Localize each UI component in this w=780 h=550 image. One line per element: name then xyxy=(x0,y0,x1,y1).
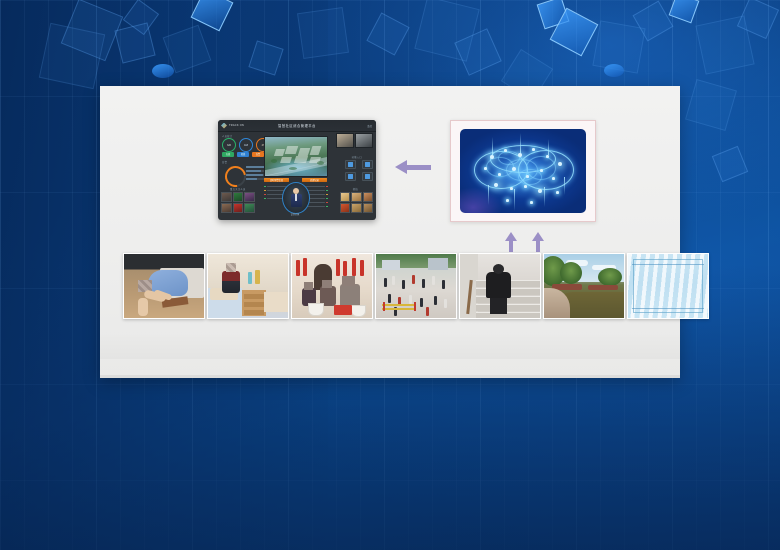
alert-row xyxy=(264,185,286,188)
arrow-shaft xyxy=(407,165,431,170)
dashboard-function-icons[interactable] xyxy=(345,160,373,181)
photo-5[interactable] xyxy=(459,253,541,319)
dashboard-section-bottom-left: 重点关注人员 xyxy=(230,187,246,191)
brain-node xyxy=(490,155,494,159)
capture-thumb[interactable] xyxy=(340,192,351,202)
arrow-photos-to-ai-2 xyxy=(532,232,544,252)
brain-node xyxy=(530,201,533,204)
capture-thumb[interactable] xyxy=(351,192,362,202)
photo-building xyxy=(428,258,448,270)
photo-red-banner xyxy=(352,258,356,276)
dashboard-kpi-rings: 326 118 47 xyxy=(222,138,270,152)
photo-stair-step xyxy=(476,312,540,319)
watchlist-thumb[interactable] xyxy=(233,203,244,213)
scenario-photo-strip xyxy=(123,253,709,319)
brain-node xyxy=(532,148,535,151)
photo-pedestrian xyxy=(422,279,425,288)
brain-node xyxy=(484,167,487,170)
brain-node xyxy=(498,173,501,176)
photo-pedestrian xyxy=(392,276,395,285)
alert-row xyxy=(306,185,328,188)
alert-row xyxy=(306,205,328,208)
photo-pedestrian xyxy=(409,295,412,304)
brain-node xyxy=(540,169,543,172)
photo-pedestrian xyxy=(444,299,447,308)
arrow-head-icon xyxy=(395,160,407,174)
map-greenery xyxy=(289,167,297,170)
brain-node xyxy=(556,191,559,194)
brain-light-beam xyxy=(520,133,521,153)
photo-pedestrian xyxy=(388,294,391,303)
photo-pedestrian xyxy=(432,276,435,285)
photo-pedestrian xyxy=(412,275,415,284)
alert-row xyxy=(306,189,328,192)
photo-7[interactable] xyxy=(627,253,709,319)
ai-brain-image xyxy=(460,129,586,213)
card-bottom-edge xyxy=(100,375,680,378)
dashboard-person-caption: 识别对象 xyxy=(282,212,308,216)
photo-6[interactable] xyxy=(543,253,625,319)
photo-person-body xyxy=(486,272,511,298)
brain-node xyxy=(506,199,509,202)
dashboard-3d-map[interactable] xyxy=(264,136,328,177)
brain-node xyxy=(546,155,549,158)
map-greenery xyxy=(317,161,324,165)
watchlist-thumb[interactable] xyxy=(221,203,232,213)
function-icon-tile[interactable] xyxy=(345,172,356,181)
photo-tree xyxy=(598,268,622,286)
photo-red-banner xyxy=(296,260,300,276)
dashboard-person-avatar xyxy=(282,182,310,214)
photo-pedestrian xyxy=(402,280,405,289)
brain-purple-glint xyxy=(460,187,502,213)
map-building xyxy=(294,156,308,163)
watchlist-thumb[interactable] xyxy=(221,192,232,202)
decor-square xyxy=(39,23,105,89)
capture-thumb[interactable] xyxy=(351,203,362,213)
photo-pedestrian xyxy=(434,296,437,305)
photo-3[interactable] xyxy=(291,253,373,319)
arrow-photos-to-ai-1 xyxy=(505,232,517,252)
dashboard-section-right-thumbs: 抓拍 xyxy=(353,187,358,191)
brain-node xyxy=(510,187,513,190)
photo-line xyxy=(632,308,704,309)
photo-1[interactable] xyxy=(123,253,205,319)
photo-red-banner xyxy=(336,259,340,276)
decor-square xyxy=(297,7,349,59)
photo-red-banner xyxy=(343,261,347,276)
brain-light-beam xyxy=(548,139,549,155)
dashboard-cctv-feeds[interactable] xyxy=(336,133,373,148)
photo-person-body xyxy=(222,271,240,293)
arrow-dashboard-from-ai xyxy=(395,160,431,174)
photo-person-leg xyxy=(138,298,148,316)
photo-red-tray xyxy=(334,305,352,315)
capture-thumb[interactable] xyxy=(363,192,374,202)
content-card: TRACK ON 智慧社区综合管理平台 监控 人员统计 326 118 47 在… xyxy=(100,86,680,378)
brain-node xyxy=(494,183,498,187)
photo-tree xyxy=(560,262,582,284)
map-greenery xyxy=(271,159,277,163)
dashboard-capture-thumbs[interactable] xyxy=(340,192,374,213)
kpi-chip-offline: 离线 xyxy=(237,152,249,157)
brain-node xyxy=(552,177,555,180)
dashboard-kpi-chips: 在线 离线 告警 xyxy=(222,152,264,157)
photo-barrier-post xyxy=(383,302,385,311)
brain-light-beam xyxy=(488,185,489,205)
dashboard-section-left-mid: 告警 xyxy=(222,160,227,164)
brain-node xyxy=(512,167,516,171)
map-building xyxy=(274,149,285,156)
map-building xyxy=(310,146,322,155)
photo-person-head xyxy=(493,264,504,274)
slide-stage: TRACK ON 智慧社区综合管理平台 监控 人员统计 326 118 47 在… xyxy=(0,0,780,550)
brain-gyrus xyxy=(518,169,542,185)
kpi-ring-online: 326 xyxy=(222,138,236,152)
photo-bed-second xyxy=(264,292,288,312)
dashboard-alert-bar-right: 处理记录 xyxy=(302,178,327,182)
cctv-feed[interactable] xyxy=(355,133,373,148)
photo-red-banner xyxy=(360,260,364,276)
photo-bowl xyxy=(308,303,324,316)
brain-light-beam xyxy=(544,187,545,207)
kpi-chip-alert: 告警 xyxy=(252,152,264,157)
function-icon-tile[interactable] xyxy=(345,160,356,169)
brain-node xyxy=(538,189,542,193)
brain-node xyxy=(558,162,562,166)
brain-light-beam xyxy=(564,177,565,195)
cctv-feed[interactable] xyxy=(336,133,354,148)
dashboard-alert-bar-left: 实时预警信息 xyxy=(264,178,289,182)
arrow-shaft xyxy=(509,239,513,252)
dashboard-title: 智慧社区综合管理平台 xyxy=(218,123,376,128)
photo-2[interactable] xyxy=(207,253,289,319)
brain-node xyxy=(524,185,527,188)
brain-node xyxy=(518,153,522,157)
dashboard-watchlist-thumbs[interactable] xyxy=(221,192,255,213)
photo-building xyxy=(382,260,400,270)
dashboard-section-right-icons: 功能入口 xyxy=(352,155,362,159)
photo-red-banner xyxy=(303,258,307,276)
avatar-shirt xyxy=(295,194,297,201)
function-icon-tile[interactable] xyxy=(362,160,373,169)
ai-brain-module[interactable] xyxy=(450,120,596,222)
dashboard-screenshot[interactable]: TRACK ON 智慧社区综合管理平台 监控 人员统计 326 118 47 在… xyxy=(218,120,376,220)
kpi-ring-offline: 118 xyxy=(239,138,253,152)
brain-node xyxy=(526,175,529,178)
photo-shrub xyxy=(588,285,618,290)
photo-bottle xyxy=(248,272,252,284)
brain-gyrus xyxy=(498,151,520,165)
photo-dresser xyxy=(242,290,266,316)
photo-pedestrian xyxy=(442,280,445,289)
function-icon-tile[interactable] xyxy=(362,172,373,181)
photo-face-blur xyxy=(342,276,355,286)
photo-pedestrian xyxy=(420,298,423,307)
brain-node xyxy=(504,149,507,152)
watchlist-thumb[interactable] xyxy=(233,192,244,202)
photo-person-legs xyxy=(490,296,507,314)
capture-thumb[interactable] xyxy=(340,203,351,213)
photo-bowl xyxy=(351,305,366,317)
photo-face-blur xyxy=(226,263,236,272)
photo-pedestrian xyxy=(426,307,429,316)
photo-4[interactable] xyxy=(375,253,457,319)
photo-bottle xyxy=(255,270,260,284)
photo-face-blur xyxy=(322,280,332,288)
photo-barrier-post xyxy=(414,302,416,311)
photo-inner-frame xyxy=(633,259,703,313)
photo-pedestrian xyxy=(384,278,387,287)
card-lower-band xyxy=(100,335,680,359)
decor-ellipse xyxy=(604,64,624,77)
watchlist-thumb[interactable] xyxy=(244,203,255,213)
brain-light-beam xyxy=(492,137,493,155)
photo-stair-step xyxy=(476,304,540,311)
watchlist-thumb[interactable] xyxy=(244,192,255,202)
photo-barrier xyxy=(382,308,416,310)
arrow-shaft xyxy=(536,239,540,252)
dashboard-monitor-label: 监控 xyxy=(367,124,372,128)
capture-thumb[interactable] xyxy=(363,203,374,213)
map-building xyxy=(280,157,292,163)
map-building xyxy=(285,146,299,154)
decor-ellipse xyxy=(152,64,174,78)
brain-light-beam xyxy=(514,189,515,211)
kpi-chip-online: 在线 xyxy=(222,152,234,157)
photo-barrier xyxy=(382,304,416,306)
photo-line xyxy=(632,264,704,265)
photo-face-blur xyxy=(304,282,313,290)
